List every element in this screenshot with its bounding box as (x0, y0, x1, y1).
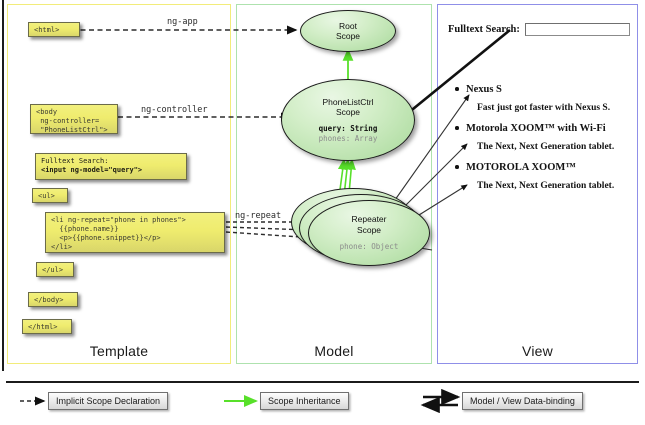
legend-scope-inheritance: Scope Inheritance (260, 390, 349, 412)
list-item: MOTOROLA XOOM™ The Next, Next Generation… (466, 161, 631, 193)
legend-databinding-label: Model / View Data-binding (462, 392, 583, 410)
edge-label-ng-app: ng-app (167, 17, 198, 27)
legend-databinding-arrow-icon (423, 397, 458, 405)
view-item-name: Nexus S (466, 83, 631, 97)
ellipse-repeater-scope: Repeater Scope phone: Object (308, 200, 430, 266)
view-item-name: MOTOROLA XOOM™ (466, 161, 631, 175)
repeater-prop-phone: phone: Object (340, 242, 399, 252)
edge-label-ng-repeat: ng-repeat (235, 211, 281, 221)
panel-template-label: Template (8, 343, 230, 359)
bullet-icon (455, 165, 459, 169)
legend-model-view-data-binding: Model / View Data-binding (462, 390, 583, 412)
view-search-label: Fulltext Search: (448, 24, 520, 35)
bullet-icon (455, 126, 459, 130)
diagram-stage: Template Model View Fulltext Search: Nex… (0, 0, 645, 425)
legend-implicit-scope-declaration: Implicit Scope Declaration (48, 390, 168, 412)
codebox-ul-close: </ul> (36, 262, 74, 277)
bullet-icon (455, 87, 459, 91)
repeater-title-2: Scope (357, 225, 381, 236)
codebox-fulltext-search-line1: Fulltext Search: (41, 157, 108, 165)
list-item: Motorola XOOM™ with Wi-Fi The Next, Next… (466, 122, 631, 154)
view-item-snippet: Fast just got faster with Nexus S. (477, 102, 631, 115)
phonelistctrl-title-2: Scope (336, 107, 360, 118)
view-search-row: Fulltext Search: (448, 23, 630, 36)
root-scope-title-2: Scope (336, 31, 360, 42)
legend-implicit-label: Implicit Scope Declaration (48, 392, 168, 410)
list-item: Nexus S Fast just got faster with Nexus … (466, 83, 631, 115)
left-rule (2, 0, 4, 371)
view-item-snippet: The Next, Next Generation tablet. (477, 141, 631, 154)
legend-inheritance-label: Scope Inheritance (260, 392, 349, 410)
edge-label-ng-controller: ng-controller (141, 105, 208, 115)
view-phone-list: Nexus S Fast just got faster with Nexus … (466, 83, 631, 200)
legend-divider (6, 381, 639, 383)
view-browser-render: Fulltext Search: Nexus S Fast just got f… (438, 5, 637, 363)
phonelistctrl-title-1: PhoneListCtrl (322, 97, 373, 108)
ellipse-phonelistctrl-scope: PhoneListCtrl Scope query: String phones… (281, 79, 415, 161)
codebox-li-ng-repeat: <li ng-repeat="phone in phones"> {{phone… (45, 212, 225, 253)
codebox-ul-open: <ul> (32, 188, 68, 203)
codebox-html-close: </html> (22, 319, 72, 334)
ellipse-root-scope: Root Scope (300, 10, 396, 52)
panel-model: Model (236, 4, 432, 364)
codebox-body-close: </body> (28, 292, 78, 307)
codebox-body-open: <body ng-controller= "PhoneListCtrl"> (30, 104, 118, 134)
view-search-input[interactable] (525, 23, 630, 36)
codebox-fulltext-search: Fulltext Search: <input ng-model="query"… (35, 153, 187, 180)
root-scope-title-1: Root (339, 21, 357, 32)
panel-template: Template (7, 4, 231, 364)
phonelistctrl-prop-query: query: String (319, 124, 378, 134)
codebox-html-open: <html> (28, 22, 80, 37)
phonelistctrl-prop-phones: phones: Array (319, 134, 378, 144)
view-item-snippet: The Next, Next Generation tablet. (477, 180, 631, 193)
repeater-title-1: Repeater (352, 214, 387, 225)
panel-model-label: Model (237, 343, 431, 359)
panel-view: View Fulltext Search: Nexus S Fast just … (437, 4, 638, 364)
codebox-fulltext-search-line2: <input ng-model="query"> (41, 166, 142, 174)
view-item-name: Motorola XOOM™ with Wi-Fi (466, 122, 631, 136)
